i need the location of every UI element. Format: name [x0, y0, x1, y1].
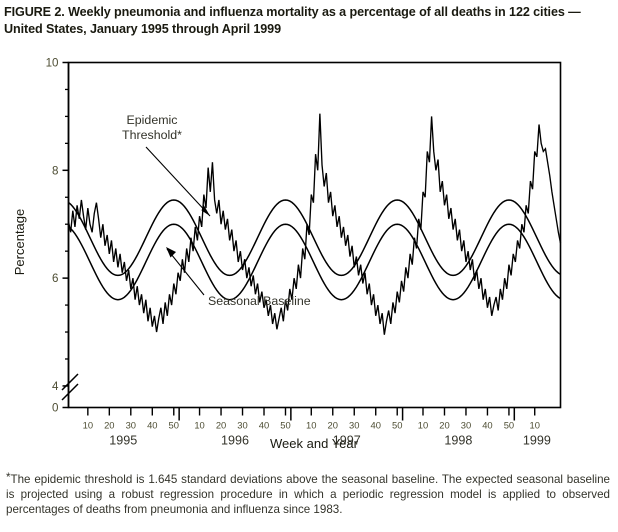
- x-tick-label: 40: [147, 420, 157, 431]
- y-tick-label: 4: [52, 380, 59, 393]
- x-axis-tick-labels: 1020304050102030405010203040501020304050…: [83, 420, 540, 431]
- x-tick-label: 30: [461, 420, 471, 431]
- epidemic-threshold-label-line2: Threshold*: [122, 128, 182, 142]
- x-axis-year-label: 1999: [523, 434, 551, 448]
- y-tick-label: 6: [52, 272, 58, 285]
- y-tick-label: 0: [52, 402, 58, 415]
- x-tick-label: 10: [83, 420, 93, 431]
- x-tick-label: 10: [418, 420, 428, 431]
- footnote-text: The epidemic threshold is 1.645 standard…: [6, 473, 610, 516]
- x-tick-label: 30: [349, 420, 359, 431]
- chart-svg: 046810 102030405010203040501020304050102…: [0, 52, 618, 452]
- page-title: FIGURE 2. Weekly pneumonia and influenza…: [4, 4, 614, 38]
- x-tick-label: 50: [280, 420, 290, 431]
- x-tick-label: 10: [306, 420, 316, 431]
- y-tick-label: 10: [46, 57, 59, 70]
- x-tick-label: 40: [482, 420, 492, 431]
- y-tick-label: 8: [52, 164, 58, 177]
- x-tick-label: 50: [392, 420, 402, 431]
- x-tick-label: 30: [126, 420, 136, 431]
- y-axis-title: Percentage: [12, 209, 27, 276]
- y-axis-tick-labels: 046810: [46, 57, 59, 415]
- x-axis-year-label: 1998: [444, 434, 472, 448]
- x-axis-year-label: 1995: [109, 434, 137, 448]
- x-tick-label: 40: [259, 420, 269, 431]
- x-tick-label: 50: [504, 420, 514, 431]
- x-axis-title: Week and Year: [270, 436, 359, 451]
- epidemic-threshold-label-line1: Epidemic: [127, 113, 178, 127]
- x-tick-label: 40: [371, 420, 381, 431]
- x-tick-label: 30: [237, 420, 247, 431]
- x-tick-label: 20: [104, 420, 114, 431]
- x-tick-label: 20: [216, 420, 226, 431]
- y-axis-ticks: [63, 63, 69, 408]
- x-tick-label: 10: [529, 420, 539, 431]
- x-tick-label: 50: [169, 420, 179, 431]
- x-tick-label: 20: [328, 420, 338, 431]
- seasonal-baseline-label: Seasonal Baseline: [208, 294, 311, 308]
- x-tick-label: 10: [194, 420, 204, 431]
- footnote: *The epidemic threshold is 1.645 standar…: [6, 470, 610, 517]
- x-axis-year-label: 1996: [221, 434, 249, 448]
- x-tick-label: 20: [439, 420, 449, 431]
- chart-figure: 046810 102030405010203040501020304050102…: [0, 52, 618, 452]
